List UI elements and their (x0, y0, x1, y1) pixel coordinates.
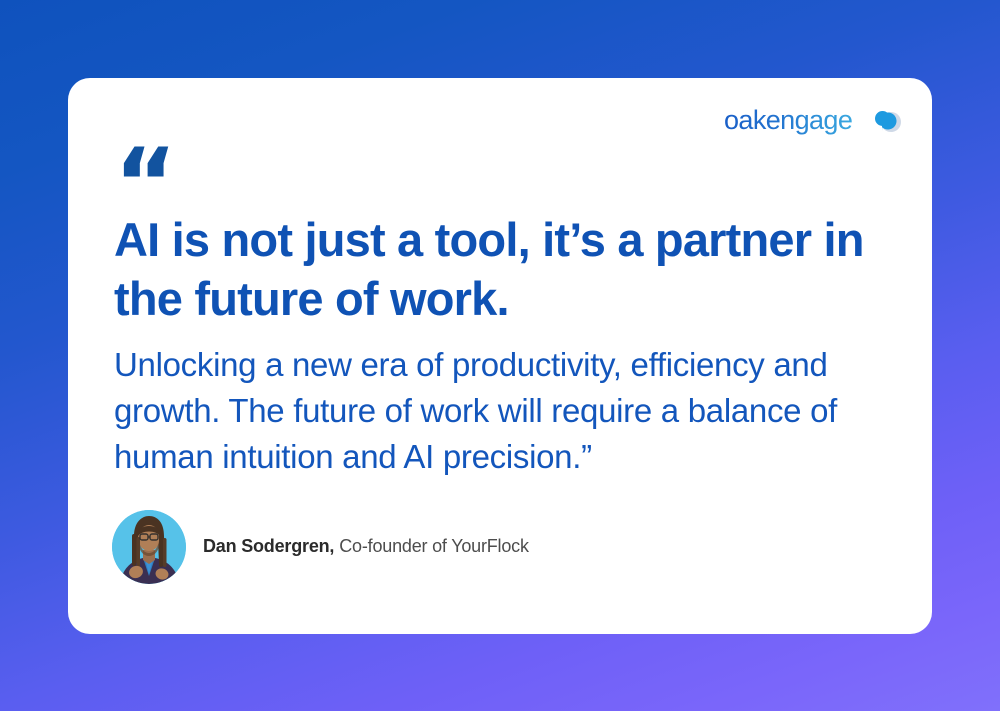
avatar (112, 510, 186, 584)
oakengage-logo[interactable]: oakengage (724, 104, 904, 138)
speaker-name: Dan Sodergren, (203, 536, 334, 556)
svg-text:oakengage: oakengage (724, 105, 852, 135)
attribution-row: Dan Sodergren, Co-founder of YourFlock (112, 510, 529, 584)
speaker-role: Co-founder of YourFlock (339, 536, 529, 556)
attribution-text: Dan Sodergren, Co-founder of YourFlock (203, 536, 529, 558)
quote-card: oakengage “ AI is not just a tool, it’s … (68, 78, 932, 634)
quote-heading: AI is not just a tool, it’s a partner in… (114, 210, 904, 328)
poster-canvas: oakengage “ AI is not just a tool, it’s … (0, 0, 1000, 711)
quote-body-text: Unlocking a new era of productivity, eff… (114, 342, 894, 480)
